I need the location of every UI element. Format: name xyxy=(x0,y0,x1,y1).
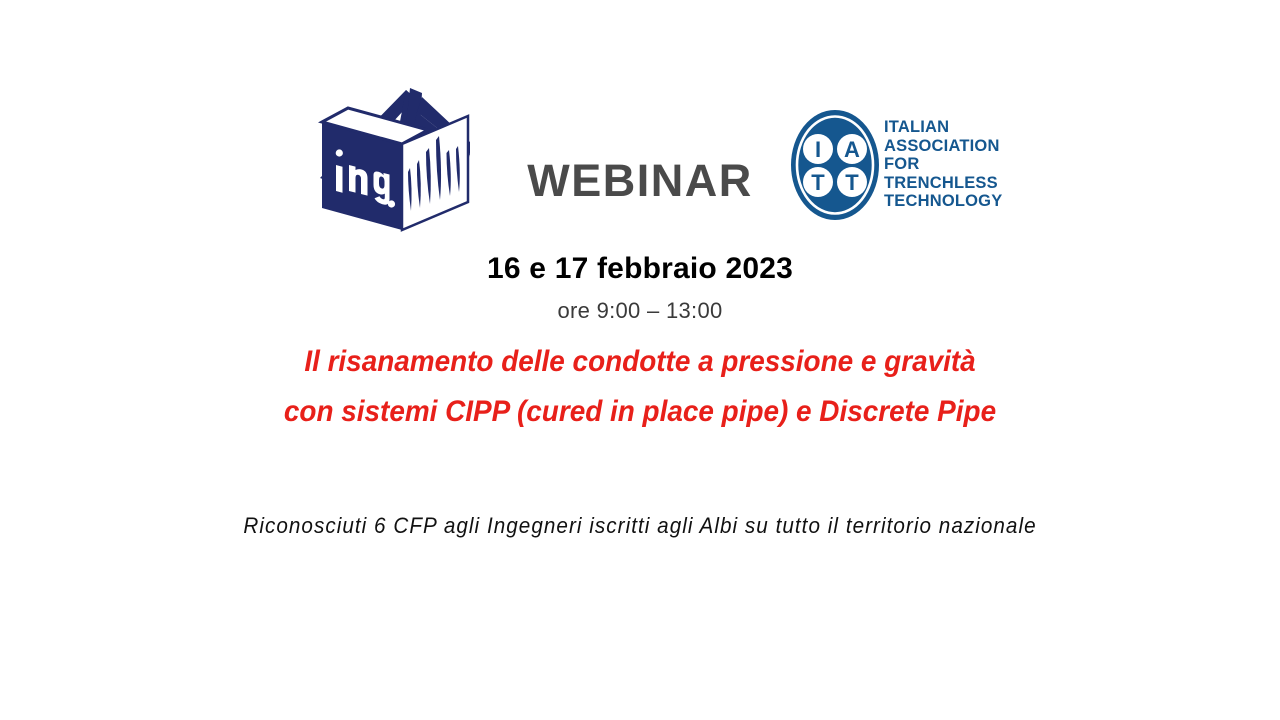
ing-logo-graphic xyxy=(318,80,478,235)
iatt-emblem-icon: I A T T xyxy=(790,109,880,221)
credits-note: Riconosciuti 6 CFP agli Ingegneri iscrit… xyxy=(38,513,1241,539)
iatt-line-technology: TECHNOLOGY xyxy=(884,192,1002,211)
iatt-logo: I A T T ITALIAN ASSOCIATION FOR TRENCHLE… xyxy=(790,102,1020,227)
event-title-line-1: Il risanamento delle condotte a pression… xyxy=(45,337,1235,387)
event-title-line-2: con sistemi CIPP (cured in place pipe) e… xyxy=(45,387,1235,437)
ing-logo xyxy=(318,80,478,235)
svg-text:T: T xyxy=(811,170,825,195)
event-date: 16 e 17 febbraio 2023 xyxy=(0,251,1280,287)
event-title: Il risanamento delle condotte a pression… xyxy=(0,337,1280,437)
logo-row: WEBINAR I A T T xyxy=(0,40,1280,200)
svg-text:I: I xyxy=(815,137,821,162)
svg-text:A: A xyxy=(844,137,860,162)
iatt-line-association: ASSOCIATION xyxy=(884,137,1002,156)
webinar-label: WEBINAR xyxy=(500,158,780,203)
iatt-line-trenchless: TRENCHLESS xyxy=(884,174,1002,193)
iatt-text-block: ITALIAN ASSOCIATION FOR TRENCHLESS TECHN… xyxy=(884,118,1002,211)
webinar-slide: WEBINAR I A T T xyxy=(0,0,1280,720)
iatt-line-italian: ITALIAN xyxy=(884,118,1002,137)
event-time: ore 9:00 – 13:00 xyxy=(0,298,1280,324)
svg-text:T: T xyxy=(845,170,859,195)
iatt-line-for: FOR xyxy=(884,155,1002,174)
